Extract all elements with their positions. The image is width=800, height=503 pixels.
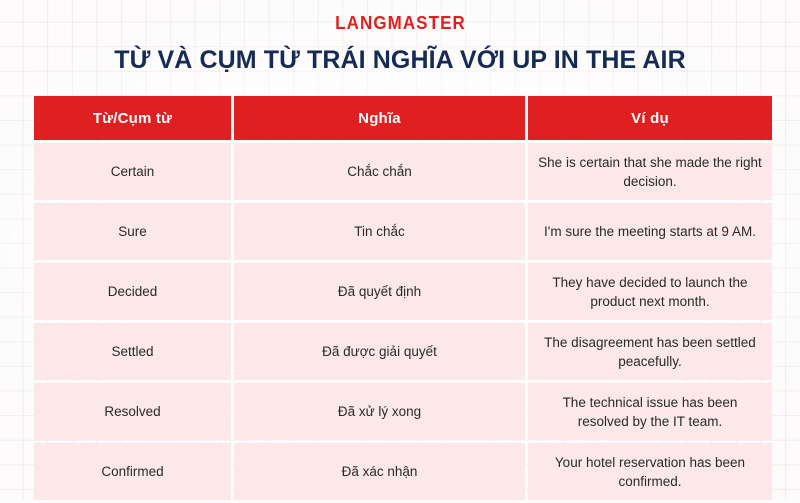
cell-example: They have decided to launch the product … xyxy=(528,263,772,320)
cell-example: The technical issue has been resolved by… xyxy=(528,383,772,440)
table-header-row: Từ/Cụm từ Nghĩa Ví dụ xyxy=(34,96,772,140)
cell-meaning: Chắc chắn xyxy=(234,143,525,200)
cell-example: Your hotel reservation has been confirme… xyxy=(528,443,772,500)
column-header-example: Ví dụ xyxy=(528,96,772,140)
cell-meaning: Đã được giải quyết xyxy=(234,323,525,380)
cell-term: Certain xyxy=(34,143,231,200)
vocabulary-table: Từ/Cụm từ Nghĩa Ví dụ Certain Chắc chắn … xyxy=(31,93,775,503)
cell-meaning: Tin chắc xyxy=(234,203,525,260)
brand-logo-text: LANGMASTER xyxy=(335,13,466,33)
cell-meaning: Đã xử lý xong xyxy=(234,383,525,440)
column-header-term: Từ/Cụm từ xyxy=(34,96,231,140)
cell-meaning: Đã xác nhận xyxy=(234,443,525,500)
cell-term: Confirmed xyxy=(34,443,231,500)
table-row: Sure Tin chắc I'm sure the meeting start… xyxy=(34,203,772,260)
cell-example: She is certain that she made the right d… xyxy=(528,143,772,200)
cell-example: The disagreement has been settled peacef… xyxy=(528,323,772,380)
page-title: TỪ VÀ CỤM TỪ TRÁI NGHĨA VỚI UP IN THE AI… xyxy=(0,45,800,75)
column-header-meaning: Nghĩa xyxy=(234,96,525,140)
table-row: Confirmed Đã xác nhận Your hotel reserva… xyxy=(34,443,772,500)
table-row: Decided Đã quyết định They have decided … xyxy=(34,263,772,320)
table-header: Từ/Cụm từ Nghĩa Ví dụ xyxy=(34,96,772,140)
table-row: Resolved Đã xử lý xong The technical iss… xyxy=(34,383,772,440)
vocabulary-table-container: Từ/Cụm từ Nghĩa Ví dụ Certain Chắc chắn … xyxy=(31,93,769,503)
brand-logo: LANGMASTER xyxy=(0,13,800,34)
table-row: Certain Chắc chắn She is certain that sh… xyxy=(34,143,772,200)
cell-term: Sure xyxy=(34,203,231,260)
cell-example: I'm sure the meeting starts at 9 AM. xyxy=(528,203,772,260)
cell-term: Resolved xyxy=(34,383,231,440)
cell-term: Settled xyxy=(34,323,231,380)
cell-meaning: Đã quyết định xyxy=(234,263,525,320)
table-body: Certain Chắc chắn She is certain that sh… xyxy=(34,143,772,500)
cell-term: Decided xyxy=(34,263,231,320)
table-row: Settled Đã được giải quyết The disagreem… xyxy=(34,323,772,380)
